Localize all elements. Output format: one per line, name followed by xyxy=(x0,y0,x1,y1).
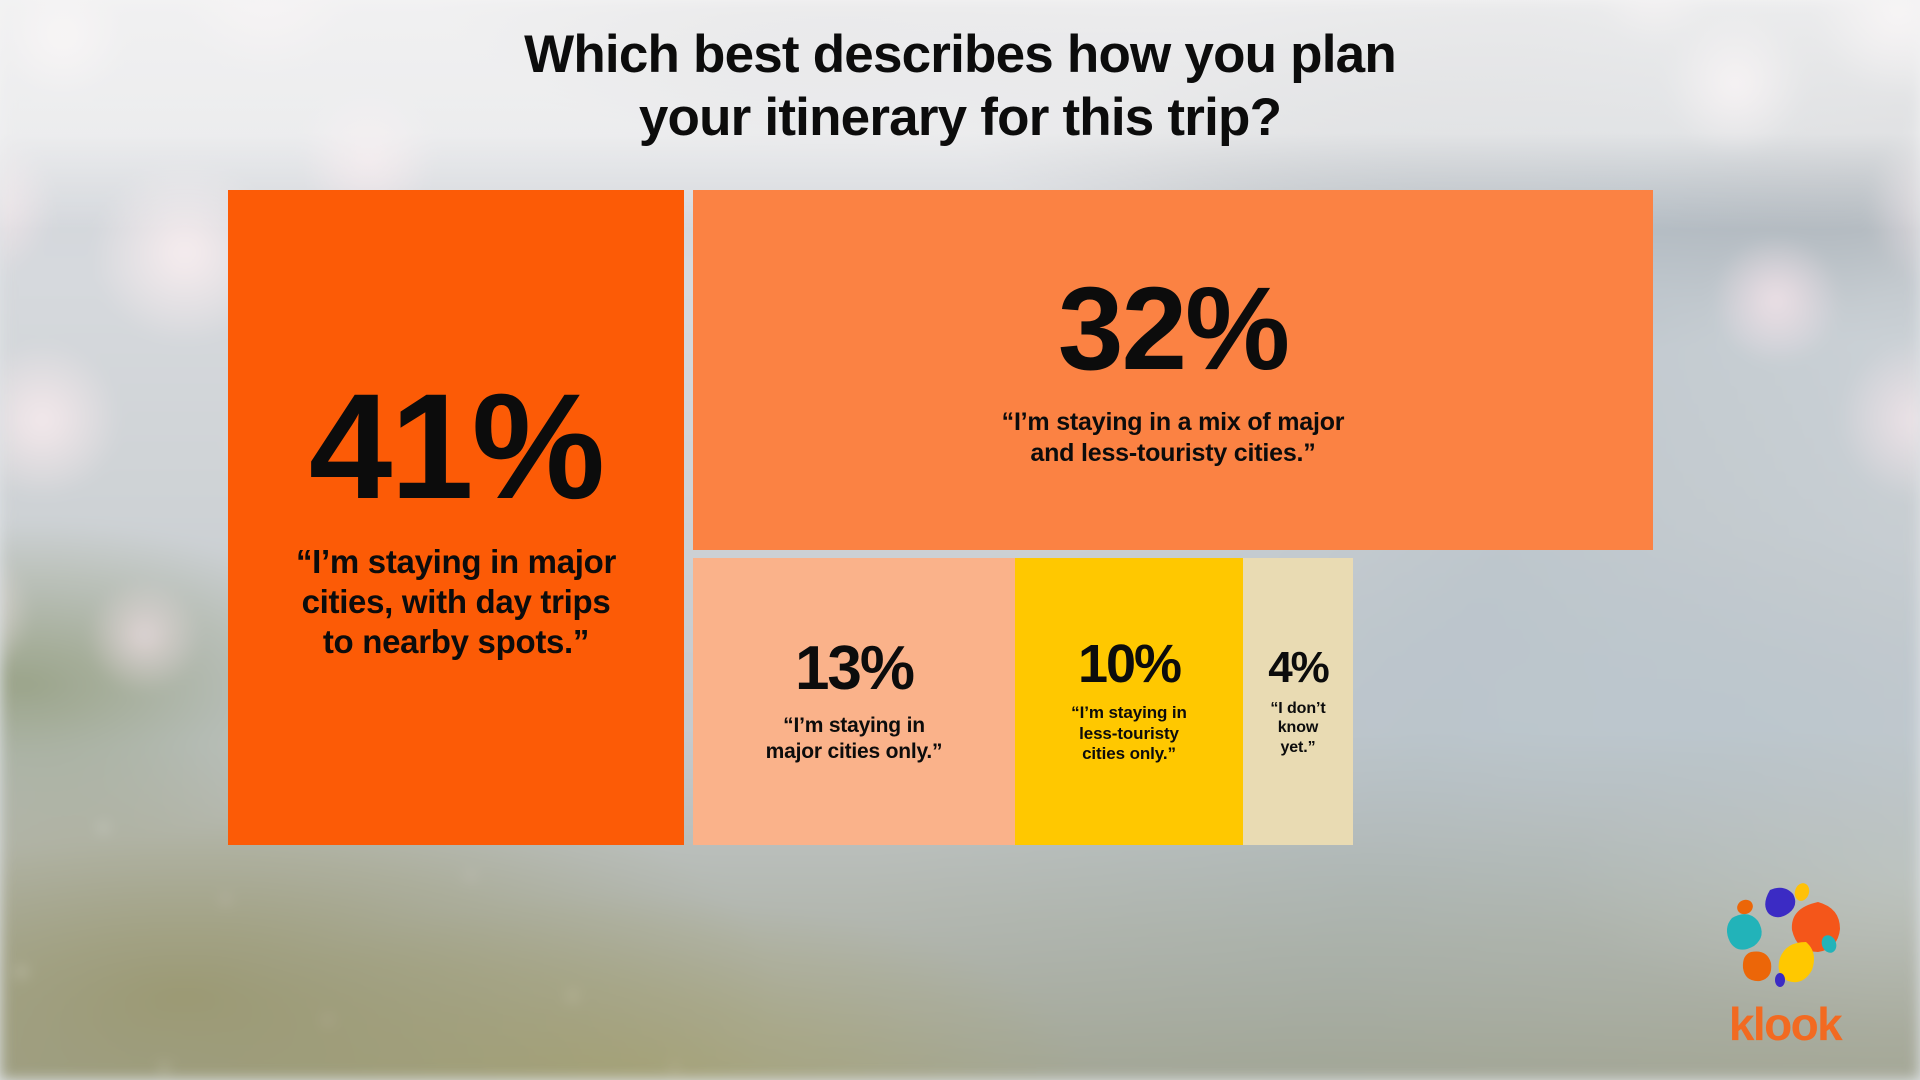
treemap-cell-13-caption-line-1: “I’m staying in xyxy=(766,713,943,739)
klook-logo[interactable]: klook xyxy=(1690,880,1880,1055)
treemap-cell-41[interactable]: 41% “I’m staying in major cities, with d… xyxy=(228,190,684,845)
treemap-cell-32-caption-line-2: and less-touristy cities.” xyxy=(1002,438,1345,469)
treemap-cell-32-caption: “I’m staying in a mix of major and less-… xyxy=(1002,407,1345,468)
treemap-cell-41-caption-line-1: “I’m staying in major xyxy=(296,542,616,582)
treemap-cell-10-caption-line-2: less-touristy xyxy=(1071,724,1187,745)
page-title-line-2: your itinerary for this trip? xyxy=(0,87,1920,150)
treemap-cell-10-caption-line-3: cities only.” xyxy=(1071,744,1187,765)
treemap-cell-4-caption: “I don’t know yet.” xyxy=(1270,699,1325,758)
treemap-cell-41-caption-line-2: cities, with day trips xyxy=(296,582,616,622)
treemap-cell-4-caption-line-1: “I don’t xyxy=(1270,699,1325,719)
treemap-cell-13-caption-line-2: major cities only.” xyxy=(766,739,943,765)
klook-wordmark: klook xyxy=(1690,997,1880,1051)
treemap-cell-41-percent: 41% xyxy=(309,373,603,520)
treemap-cell-10-caption: “I’m staying in less-touristy cities onl… xyxy=(1071,703,1187,765)
treemap-cell-10-caption-line-1: “I’m staying in xyxy=(1071,703,1187,724)
treemap-cell-32[interactable]: 32% “I’m staying in a mix of major and l… xyxy=(693,190,1653,550)
treemap-cell-4[interactable]: 4% “I don’t know yet.” xyxy=(1243,558,1353,845)
treemap-cell-4-percent: 4% xyxy=(1268,646,1328,689)
page-title: Which best describes how you plan your i… xyxy=(0,24,1920,149)
treemap-cell-32-percent: 32% xyxy=(1058,272,1288,388)
treemap-cell-32-caption-line-1: “I’m staying in a mix of major xyxy=(1002,407,1345,438)
treemap-cell-10-percent: 10% xyxy=(1078,638,1180,691)
treemap-cell-41-caption-line-3: to nearby spots.” xyxy=(296,622,616,662)
treemap-cell-4-caption-line-3: yet.” xyxy=(1270,738,1325,758)
page-title-line-1: Which best describes how you plan xyxy=(0,24,1920,87)
treemap-cell-13-percent: 13% xyxy=(795,639,913,700)
treemap-cell-10[interactable]: 10% “I’m staying in less-touristy cities… xyxy=(1015,558,1243,845)
treemap-cell-41-caption: “I’m staying in major cities, with day t… xyxy=(296,542,616,663)
treemap-cell-13[interactable]: 13% “I’m staying in major cities only.” xyxy=(693,558,1015,845)
treemap-cell-4-caption-line-2: know xyxy=(1270,718,1325,738)
klook-petals-icon xyxy=(1710,880,1860,995)
treemap-chart: 41% “I’m staying in major cities, with d… xyxy=(228,190,1653,845)
treemap-cell-13-caption: “I’m staying in major cities only.” xyxy=(766,713,943,764)
